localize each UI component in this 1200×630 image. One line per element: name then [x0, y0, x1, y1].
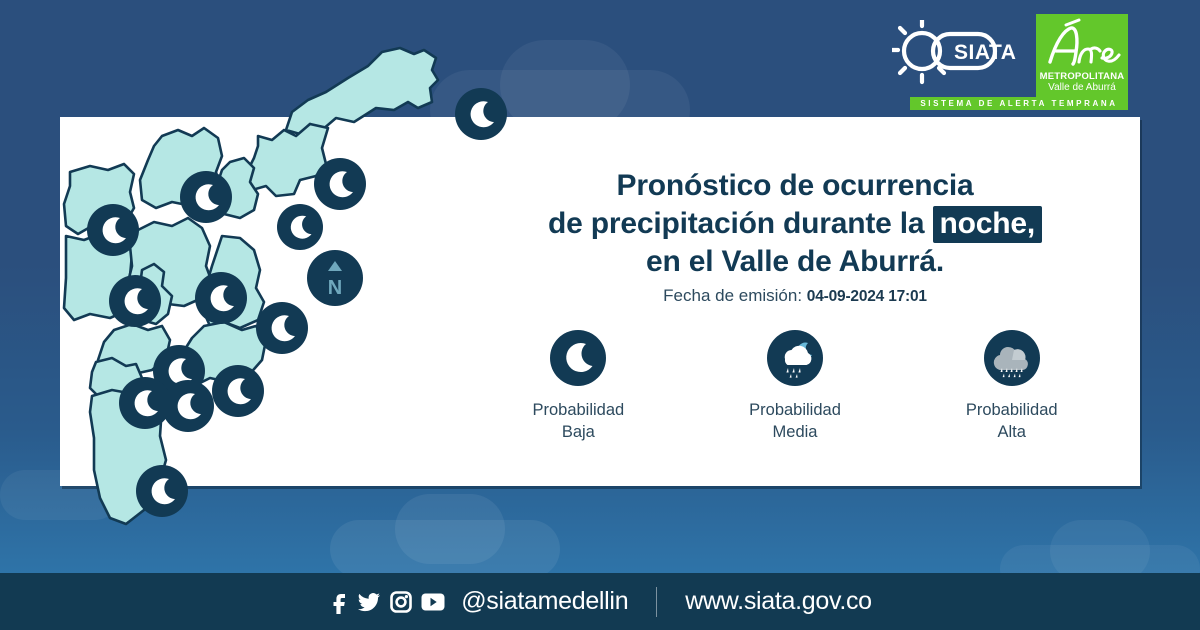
municipality-barbosa — [286, 48, 438, 134]
headline-highlight: noche, — [933, 206, 1042, 243]
map-marker-barbosa[interactable] — [455, 88, 507, 140]
cloud-heavy-rain-icon — [984, 330, 1040, 386]
issue-date-label: Fecha de emisión: — [663, 286, 802, 305]
poster-root: SIATA METROPOLITANA Valle de Aburrá SIST… — [0, 0, 1200, 630]
social-handle[interactable]: @siatamedellin — [461, 587, 628, 616]
issue-date: Fecha de emisión: 04-09-2024 17:01 — [470, 286, 1120, 306]
cloud-moon-rain-icon — [767, 330, 823, 386]
legend-label-alta-line2: Alta — [966, 421, 1058, 443]
north-arrow-icon: N — [307, 250, 363, 306]
moon-icon — [314, 158, 366, 210]
moon-icon — [277, 204, 323, 250]
map-marker-bello[interactable] — [180, 171, 232, 223]
headline-line-1: Pronóstico de ocurrencia — [470, 167, 1120, 205]
social-links — [328, 590, 445, 614]
probability-legend: Probabilidad Baja Probabilidad Media — [470, 330, 1120, 443]
map-marker-girardota[interactable] — [314, 158, 366, 210]
map-marker-copacabana[interactable] — [277, 204, 323, 250]
headline-line-2-text: de precipitación durante la — [548, 207, 933, 240]
compass-label: N — [328, 277, 342, 299]
moon-icon — [195, 272, 247, 324]
facebook-icon[interactable] — [328, 590, 348, 614]
area-metropolitana-logo: METROPOLITANA Valle de Aburrá — [1036, 14, 1128, 98]
legend-label-media-line1: Probabilidad — [749, 399, 841, 421]
headline-line-2: de precipitación durante la noche, — [470, 205, 1120, 243]
legend-label-alta-line1: Probabilidad — [966, 399, 1058, 421]
moon-icon — [87, 204, 139, 256]
footer-bar: @siatamedellin www.siata.gov.co — [0, 573, 1200, 630]
svg-text:SIATA: SIATA — [954, 41, 1016, 64]
moon-icon — [136, 465, 188, 517]
legend-item-media: Probabilidad Media — [687, 330, 904, 443]
instagram-icon[interactable] — [390, 591, 412, 613]
moon-icon — [212, 365, 264, 417]
siata-logo: SIATA — [892, 20, 1018, 86]
area-script-icon — [1036, 18, 1128, 70]
brand-logos: SIATA METROPOLITANA Valle de Aburrá SIST… — [892, 14, 1128, 110]
legend-label-media-line2: Media — [749, 421, 841, 443]
area-logo-line2: Valle de Aburrá — [1048, 82, 1116, 94]
twitter-icon[interactable] — [357, 590, 381, 614]
map-marker-caldas[interactable] — [136, 465, 188, 517]
legend-label-baja-line1: Probabilidad — [532, 399, 624, 421]
moon-icon — [180, 171, 232, 223]
map-marker-envigado[interactable] — [212, 365, 264, 417]
legend-label-media: Probabilidad Media — [749, 399, 841, 443]
map-marker-sabaneta[interactable] — [162, 380, 214, 432]
map-marker-medellin[interactable] — [195, 272, 247, 324]
headline-line-3: en el Valle de Aburrá. — [470, 243, 1120, 281]
legend-item-baja: Probabilidad Baja — [470, 330, 687, 443]
issue-date-value: 04-09-2024 17:01 — [807, 288, 927, 305]
map-marker-guarne[interactable] — [256, 302, 308, 354]
youtube-icon[interactable] — [421, 593, 445, 611]
footer-divider — [656, 587, 657, 617]
moon-icon — [162, 380, 214, 432]
website-url[interactable]: www.siata.gov.co — [685, 587, 871, 616]
page-title: Pronóstico de ocurrencia de precipitació… — [470, 167, 1120, 281]
legend-item-alta: Probabilidad Alta — [903, 330, 1120, 443]
valle-de-aburra-map — [52, 40, 472, 580]
moon-icon — [455, 88, 507, 140]
legend-label-baja: Probabilidad Baja — [532, 399, 624, 443]
moon-icon — [256, 302, 308, 354]
compass-rose: N — [307, 250, 363, 306]
tagline-bar: SISTEMA DE ALERTA TEMPRANA — [910, 97, 1128, 110]
legend-label-baja-line2: Baja — [532, 421, 624, 443]
map-marker-san-pedro[interactable] — [87, 204, 139, 256]
moon-icon — [109, 275, 161, 327]
area-logo-line1: METROPOLITANA — [1040, 71, 1125, 82]
map-marker-medellin-norte[interactable] — [109, 275, 161, 327]
legend-label-alta: Probabilidad Alta — [966, 399, 1058, 443]
moon-icon — [550, 330, 606, 386]
